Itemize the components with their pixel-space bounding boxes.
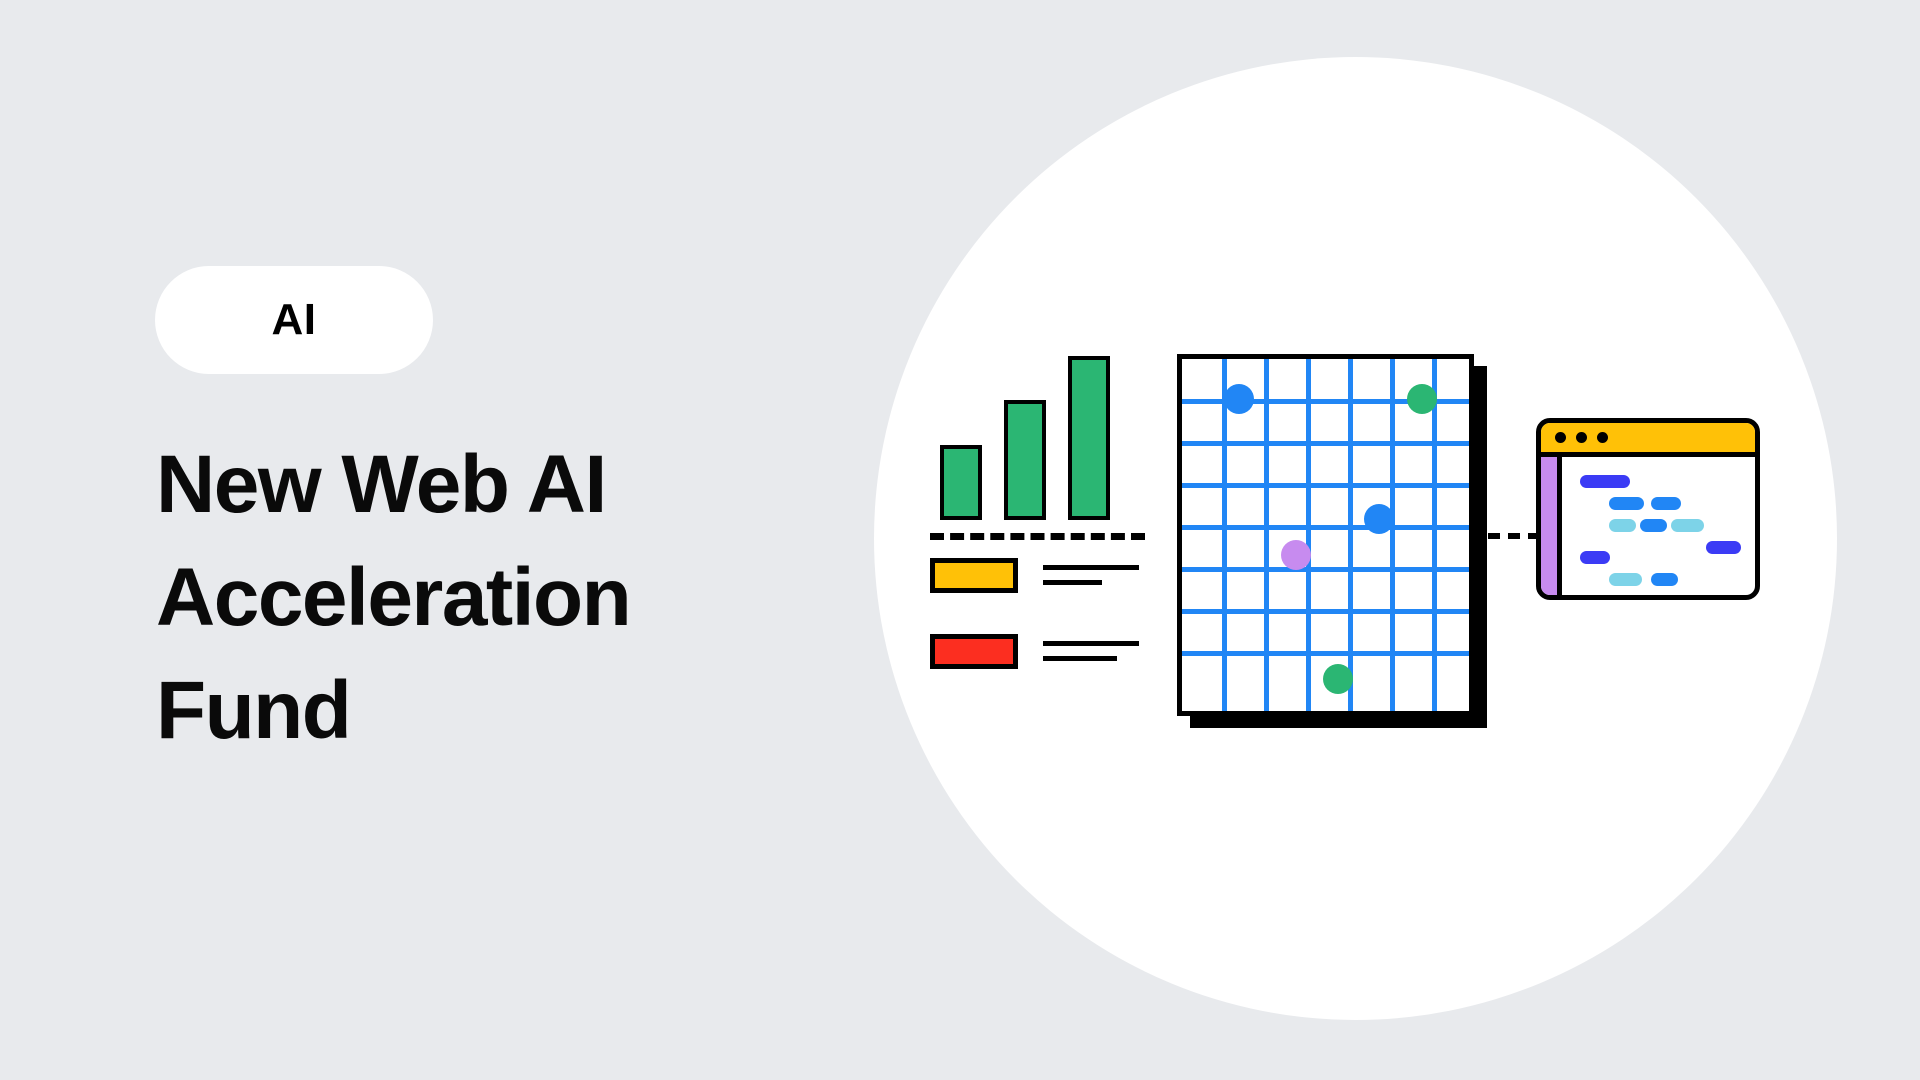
illustration-backdrop-circle (874, 57, 1837, 1020)
ai-badge-label: AI (272, 298, 317, 342)
page-title: New Web AI Acceleration Fund (156, 428, 756, 767)
headline-line-1: New Web AI (156, 428, 756, 541)
ai-badge-pill[interactable]: AI (155, 266, 433, 374)
hero-text-panel: AI New Web AI Acceleration Fund (0, 0, 760, 1080)
headline-line-2: Acceleration (156, 541, 756, 654)
headline-line-3: Fund (156, 654, 756, 767)
